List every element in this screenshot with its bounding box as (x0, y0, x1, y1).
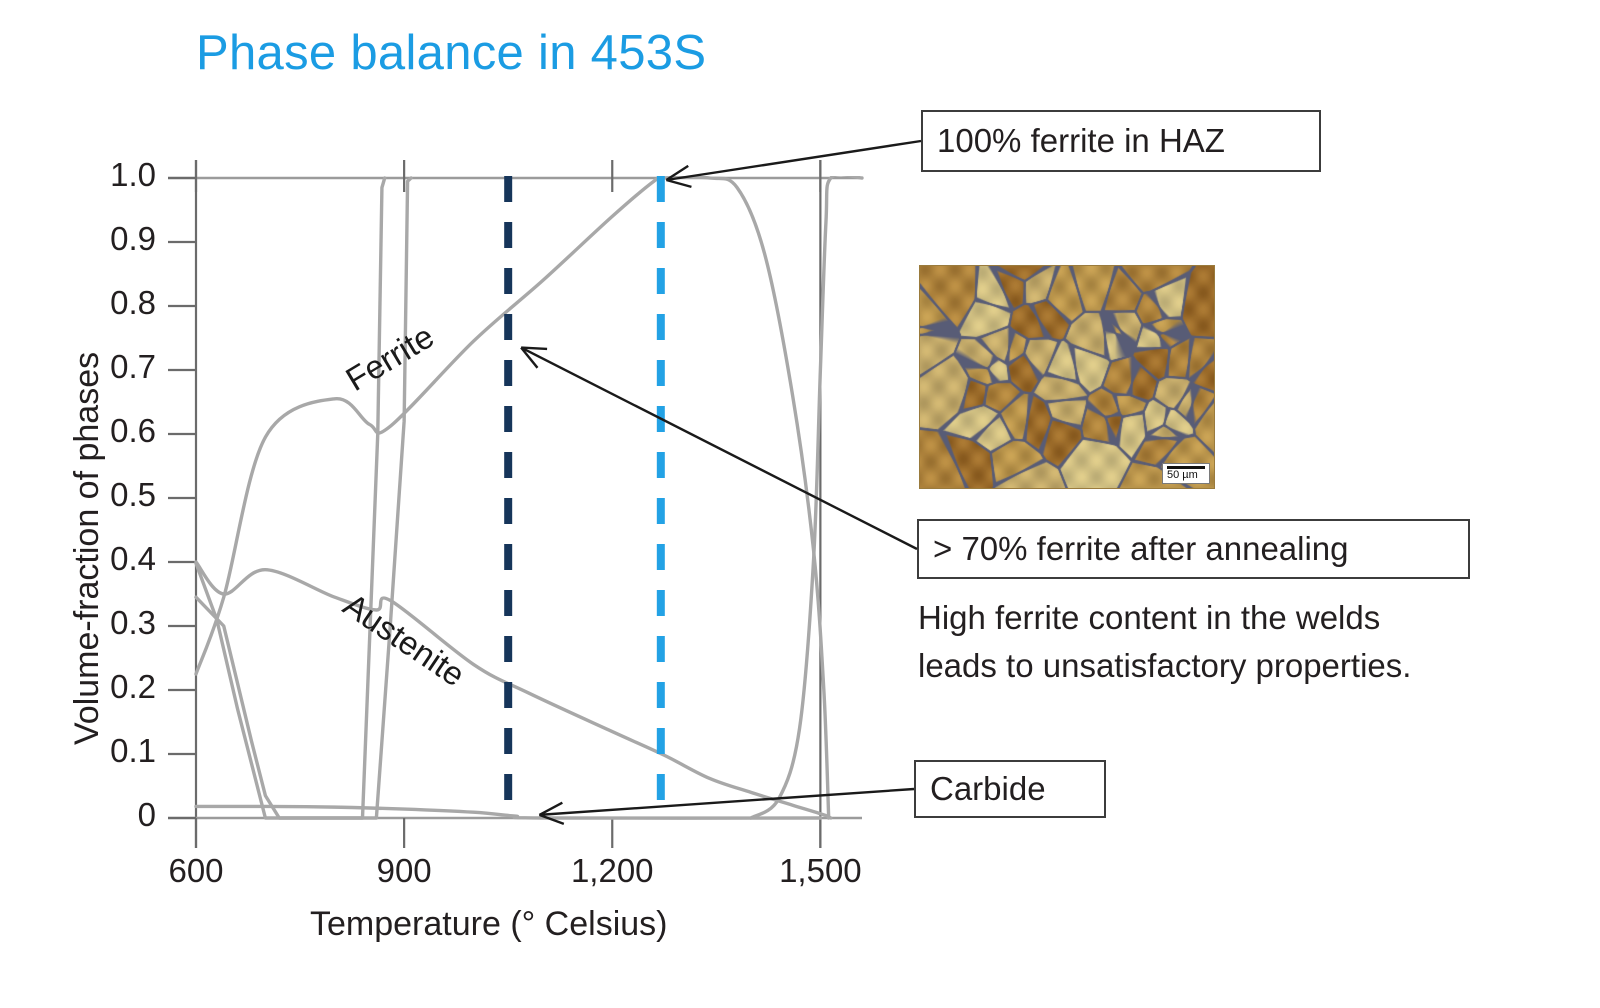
callout-annealing: > 70% ferrite after annealing (917, 519, 1470, 579)
y-tick-label: 0.7 (86, 348, 156, 386)
micrograph-canvas (920, 266, 1215, 489)
y-tick-label: 0.4 (86, 540, 156, 578)
callout-haz: 100% ferrite in HAZ (921, 110, 1321, 172)
micrograph-image: 50 µm (919, 265, 1215, 489)
body-note: High ferrite content in the welds leads … (918, 594, 1558, 690)
series-curve-ferrite (196, 177, 829, 818)
body-note-line-1: High ferrite content in the welds (918, 594, 1558, 642)
y-tick-label: 0.6 (86, 412, 156, 450)
y-tick-label: 0.8 (86, 284, 156, 322)
callout-carbide: Carbide (914, 760, 1106, 818)
body-note-line-2: leads to unsatisfactory properties. (918, 642, 1558, 690)
y-tick-label: 0.9 (86, 220, 156, 258)
series-curve-austenite (196, 562, 831, 818)
x-tick-label: 1,500 (750, 852, 890, 890)
y-tick-label: 0.3 (86, 604, 156, 642)
y-tick-label: 0.1 (86, 732, 156, 770)
x-axis-title: Temperature (° Celsius) (310, 905, 667, 944)
y-tick-label: 1.0 (86, 156, 156, 194)
y-tick-label: 0.2 (86, 668, 156, 706)
x-tick-label: 1,200 (542, 852, 682, 890)
scale-bar-label: 50 µm (1167, 469, 1198, 481)
series-curve-m23c6 (196, 178, 385, 818)
y-tick-label: 0.5 (86, 476, 156, 514)
x-tick-label: 900 (334, 852, 474, 890)
scale-bar: 50 µm (1162, 463, 1210, 484)
x-tick-label: 600 (126, 852, 266, 890)
y-tick-label: 0 (86, 796, 156, 834)
phase-balance-chart: Volume-fraction of phases Temperature (°… (0, 0, 960, 1008)
